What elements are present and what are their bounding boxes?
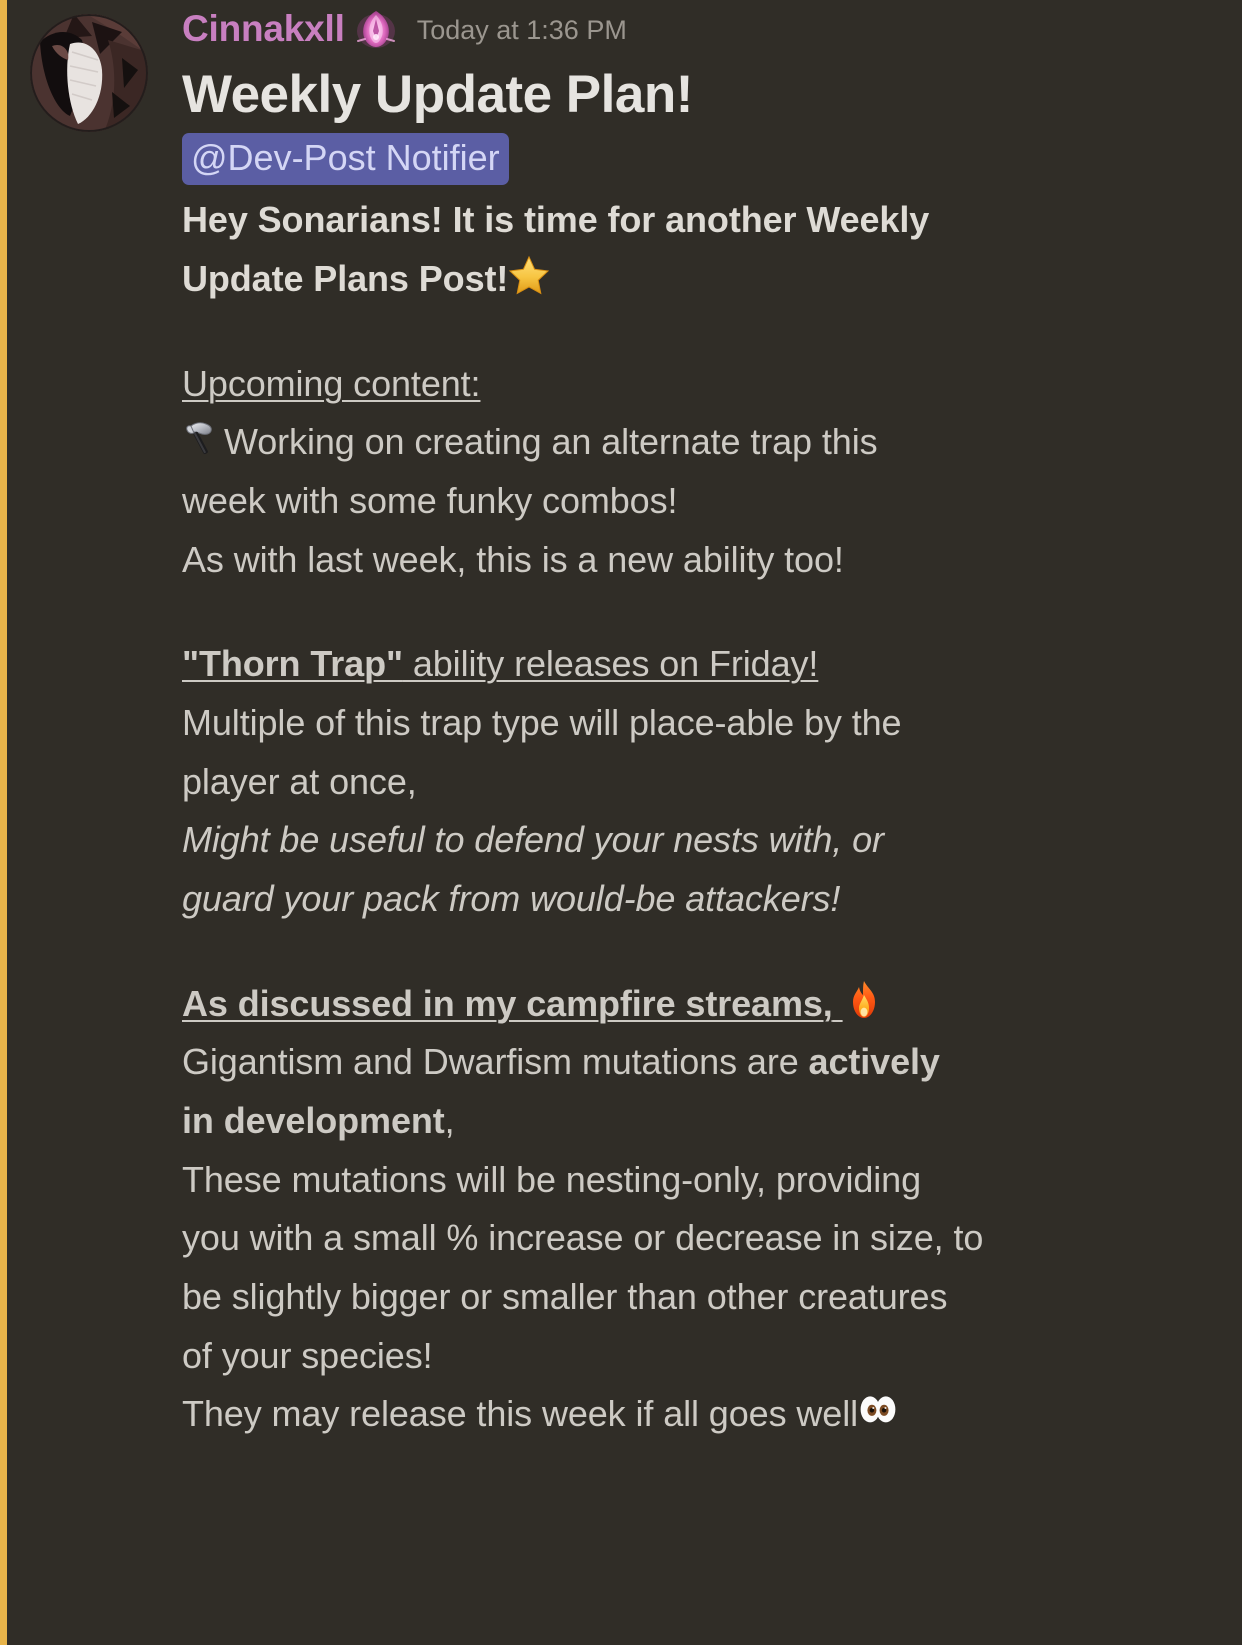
message-header: Cinnakxll <box>182 0 1182 56</box>
thorn-trap-heading-bold: "Thorn Trap" <box>182 643 403 684</box>
discord-message: Cinnakxll <box>0 0 1242 1645</box>
thorn-trap-line-1: Multiple of this trap type will place-ab… <box>182 694 1182 753</box>
campfire-line-2-post: , <box>445 1100 455 1141</box>
upcoming-line-3: As with last week, this is a new ability… <box>182 531 1182 590</box>
page-title: Weekly Update Plan! <box>182 64 1182 127</box>
eyes-emoji <box>858 1392 898 1432</box>
campfire-line-5: be slightly bigger or smaller than other… <box>182 1268 1182 1327</box>
thorn-trap-heading: "Thorn Trap" ability releases on Friday! <box>182 635 1182 694</box>
role-mention-pill[interactable]: @Dev-Post Notifier <box>182 133 509 186</box>
fire-emoji <box>843 979 885 1021</box>
blank-line-2 <box>182 589 1182 635</box>
star-emoji <box>508 254 550 296</box>
upcoming-line-1: Working on creating an alternate trap th… <box>182 413 1182 472</box>
avatar[interactable] <box>30 14 148 132</box>
campfire-line-6: of your species! <box>182 1327 1182 1386</box>
thorn-trap-heading-rest: ability releases on Friday! <box>403 643 818 684</box>
message-content: Cinnakxll <box>182 0 1182 1444</box>
campfire-heading-text: As discussed in my campfire streams, <box>182 983 833 1024</box>
campfire-heading: As discussed in my campfire streams, <box>182 975 1182 1034</box>
intro-line-1: Hey Sonarians! It is time for another We… <box>182 191 1182 250</box>
campfire-line-7-text: They may release this week if all goes w… <box>182 1393 858 1434</box>
thorn-trap-line-2: player at once, <box>182 753 1182 812</box>
upcoming-line-2: week with some funky combos! <box>182 472 1182 531</box>
upcoming-heading: Upcoming content: <box>182 355 1182 414</box>
campfire-line-1-bold: actively <box>809 1041 940 1082</box>
pink-gem-badge-icon[interactable] <box>355 9 397 49</box>
message-timestamp: Today at 1:36 PM <box>417 17 627 44</box>
blank-line-1 <box>182 309 1182 355</box>
campfire-line-2: in development, <box>182 1092 1182 1151</box>
upcoming-heading-text: Upcoming content: <box>182 363 480 404</box>
campfire-line-2-bold: in development <box>182 1100 445 1141</box>
thorn-trap-italic-1: Might be useful to defend your nests wit… <box>182 811 1182 870</box>
blank-line-3 <box>182 929 1182 975</box>
intro-line-2: Update Plans Post! <box>182 250 1182 309</box>
campfire-line-4: you with a small % increase or decrease … <box>182 1209 1182 1268</box>
campfire-line-7: They may release this week if all goes w… <box>182 1385 1182 1444</box>
intro-line-2-text: Update Plans Post! <box>182 258 508 299</box>
author-name[interactable]: Cinnakxll <box>182 10 345 47</box>
thorn-trap-italic-2: guard your pack from would-be attackers! <box>182 870 1182 929</box>
upcoming-line-1-text: Working on creating an alternate trap th… <box>224 421 878 462</box>
campfire-line-1: Gigantism and Dwarfism mutations are act… <box>182 1033 1182 1092</box>
campfire-line-1-pre: Gigantism and Dwarfism mutations are <box>182 1041 809 1082</box>
mention-highlight-bar <box>0 0 7 1645</box>
hammer-emoji <box>182 417 224 459</box>
role-mention-row: @Dev-Post Notifier <box>182 133 1182 186</box>
campfire-line-3: These mutations will be nesting-only, pr… <box>182 1151 1182 1210</box>
